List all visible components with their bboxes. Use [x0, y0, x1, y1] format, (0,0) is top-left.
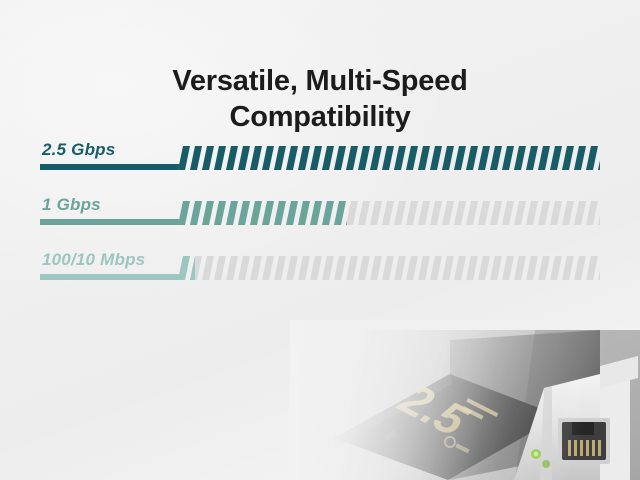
- stripe-pattern-25gbps: [178, 146, 600, 170]
- speed-row-25gbps: 2.5 Gbps: [0, 140, 640, 195]
- speed-underline-1gbps: [40, 219, 185, 225]
- page-title-line-1: Versatile, Multi-Speed: [0, 63, 640, 99]
- promo-banner: 2.5: [0, 0, 640, 480]
- stripe-pattern-1gbps: [178, 201, 600, 225]
- speed-label-25gbps: 2.5 Gbps: [42, 140, 115, 160]
- speed-bar-25gbps: [178, 146, 600, 170]
- speed-label-100-10mbps: 100/10 Mbps: [42, 250, 145, 270]
- speed-row-1gbps: 1 Gbps: [0, 195, 640, 250]
- speed-bar-chart: 2.5 Gbps: [0, 140, 640, 305]
- product-photo-network-adapter: 2.5: [300, 330, 640, 480]
- speed-bar-100-10mbps: [178, 256, 600, 280]
- speed-underline-100-10mbps: [40, 274, 185, 280]
- page-title-line-2: Compatibility: [0, 99, 640, 135]
- speed-label-1gbps: 1 Gbps: [42, 195, 101, 215]
- speed-row-100-10mbps: 100/10 Mbps: [0, 250, 640, 305]
- stripe-pattern-100-10mbps: [178, 256, 600, 280]
- speed-underline-25gbps: [40, 164, 185, 170]
- page-title: Versatile, Multi-Speed Compatibility: [0, 63, 640, 135]
- speed-bar-1gbps: [178, 201, 600, 225]
